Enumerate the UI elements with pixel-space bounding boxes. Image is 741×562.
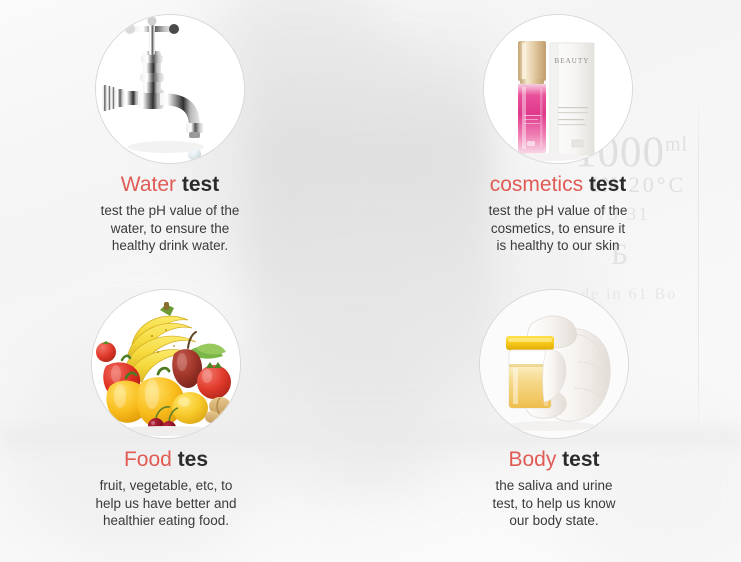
body-heading-keyword: Body [508,448,556,471]
panel-body: Body test the saliva and urine test, to … [404,289,704,530]
body-heading: Body test [404,447,704,473]
cosmetics-description-line: test the pH value of the [438,202,678,220]
water-image-frame [95,14,245,164]
water-description-line: water, to ensure the [50,220,290,238]
water-faucet-photo [95,14,245,164]
cosmetics-heading: cosmetics test [408,172,708,198]
body-description-line: test, to help us know [434,495,674,513]
food-heading-suffix: tes [178,448,208,471]
cosmetics-image-frame: BEAUTY [483,14,633,164]
cosmetics-heading-suffix: test [589,173,626,196]
urine-sample-photo [479,289,629,439]
body-description: the saliva and urine test, to help us kn… [434,477,674,530]
water-heading-suffix: test [182,173,219,196]
food-description-line: healthier eating food. [46,512,286,530]
ph-tester-usage-infographic: 1000ml IN 20°C 79 31 Б de in 61 Bo [0,0,741,562]
food-heading-keyword: Food [124,448,172,471]
cosmetics-description-line: is healthy to our skin [438,237,678,255]
cosmetics-description-line: cosmetics, to ensure it [438,220,678,238]
panel-food: Food tes fruit, vegetable, etc, to help … [16,289,316,530]
food-description-line: fruit, vegetable, etc, to [46,477,286,495]
food-description-line: help us have better and [46,495,286,513]
food-description: fruit, vegetable, etc, to help us have b… [46,477,286,530]
cosmetics-description: test the pH value of the cosmetics, to e… [438,202,678,255]
water-description-line: test the pH value of the [50,202,290,220]
panel-water: Water test test the pH value of the wate… [20,14,320,255]
body-description-line: our body state. [434,512,674,530]
panel-grid: Water test test the pH value of the wate… [0,0,741,562]
food-image-frame [91,289,241,439]
water-description-line: healthy drink water. [50,237,290,255]
svg-text:BEAUTY: BEAUTY [555,57,590,65]
food-heading: Food tes [16,447,316,473]
water-description: test the pH value of the water, to ensur… [50,202,290,255]
cosmetics-serum-photo: BEAUTY [483,14,633,164]
water-heading: Water test [20,172,320,198]
water-heading-keyword: Water [121,173,176,196]
body-image-frame [479,289,629,439]
fruits-vegetables-photo [91,289,241,439]
body-heading-suffix: test [562,448,599,471]
body-description-line: the saliva and urine [434,477,674,495]
cosmetics-heading-keyword: cosmetics [490,173,583,196]
panel-cosmetics: BEAUTY [408,14,708,255]
